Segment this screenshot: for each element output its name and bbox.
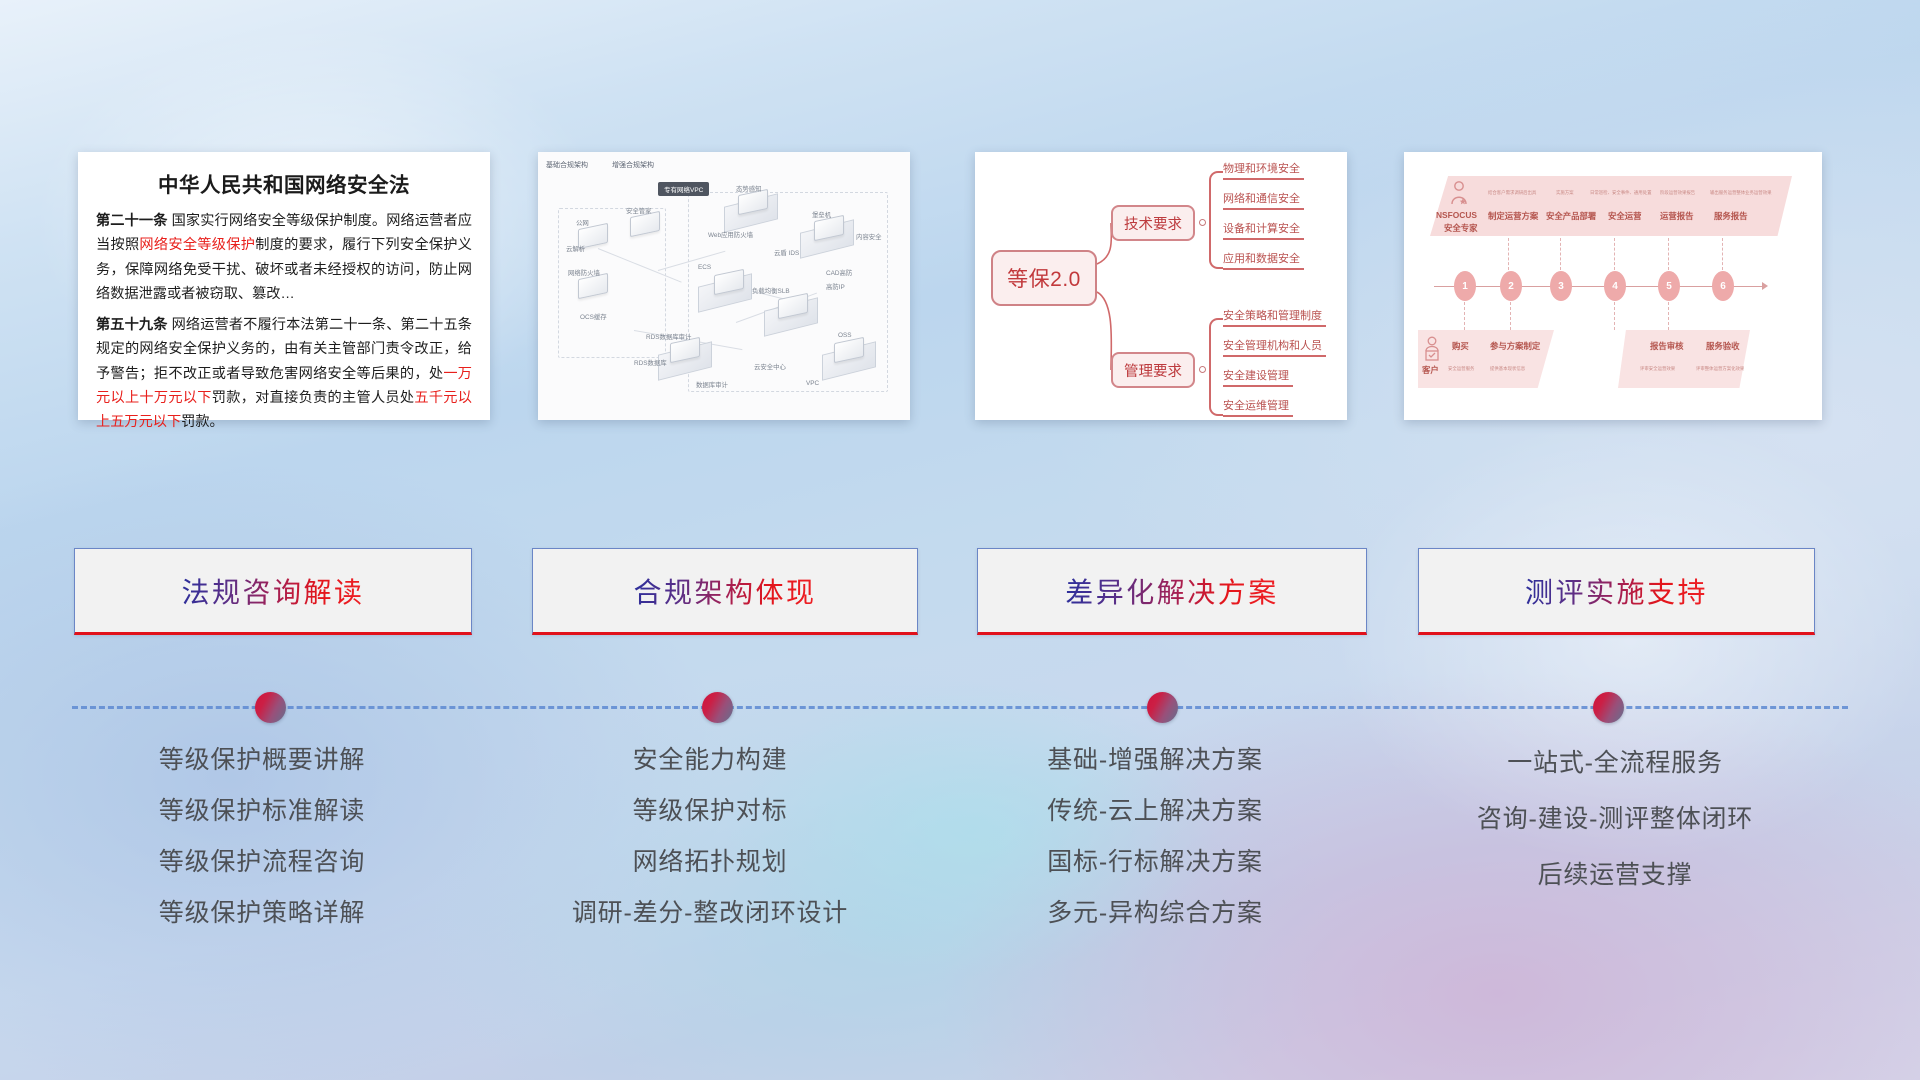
security-expert-icon — [1448, 180, 1470, 206]
card-operations-timeline[interactable]: NSFOCUS 安全专家 客户 1 2 3 4 5 6 — [1404, 152, 1822, 420]
arch-label-8: ECS — [698, 264, 711, 271]
ops-step-2-main: 制定运营方案 — [1488, 210, 1538, 222]
image-card-row: 中华人民共和国网络安全法 第二十一条 国家实行网络安全等级保护制度。网络运营者应… — [0, 0, 1920, 430]
timeline-dot-2[interactable] — [702, 692, 733, 723]
card-cybersecurity-law[interactable]: 中华人民共和国网络安全法 第二十一条 国家实行网络安全等级保护制度。网络运营者应… — [78, 152, 490, 420]
ops-customer-action-2-main: 报告审核 — [1650, 340, 1684, 352]
arch-tag-vpc: 专有网络VPC — [658, 182, 709, 196]
list-item: 传统-云上解决方案 — [965, 786, 1345, 837]
law-title: 中华人民共和国网络安全法 — [96, 168, 472, 198]
law-article-21-highlight: 网络安全等级保护 — [139, 237, 255, 253]
detail-list-2: 安全能力构建 等级保护对标 网络拓扑规划 调研-差分-整改闭环设计 — [520, 735, 900, 939]
arch-label-15: OCS缓存 — [580, 312, 607, 321]
timeline-connector — [0, 687, 1920, 727]
section-title-4: 测评实施支持 — [1525, 571, 1708, 611]
timeline-dot-4[interactable] — [1593, 692, 1624, 723]
section-title-box-4[interactable]: 测评实施支持 — [1418, 548, 1815, 635]
arch-label-17: 数据库审计 — [696, 380, 728, 389]
ops-step-4[interactable]: 4 — [1604, 271, 1626, 301]
law-article-59-text-c: 罚款。 — [181, 414, 224, 430]
list-item: 网络拓扑规划 — [520, 837, 900, 888]
mindmap-node-management: 管理要求 — [1111, 352, 1195, 388]
arch-label-6: 云解析 — [566, 244, 585, 253]
ops-tick-down-6 — [1668, 302, 1669, 330]
list-item: 一站式-全流程服务 — [1405, 735, 1825, 791]
list-item: 基础-增强解决方案 — [965, 735, 1345, 786]
ops-timeline-arrow-icon — [1762, 282, 1768, 290]
ops-role-expert-line1: NSFOCUS — [1436, 210, 1477, 220]
list-item: 咨询-建设-测评整体闭环 — [1405, 791, 1825, 847]
mindmap-leaf-mgmt-0: 安全策略和管理制度 — [1223, 307, 1322, 325]
arch-label-1: 安全管家 — [626, 206, 652, 215]
section-title-2: 合规架构体现 — [633, 571, 816, 611]
ops-role-expert-line2: 安全专家 — [1444, 222, 1478, 234]
mindmap-brace-technical — [1209, 171, 1223, 269]
mindmap-leaf-tech-2: 设备和计算安全 — [1223, 220, 1300, 238]
detail-list-4: 一站式-全流程服务 咨询-建设-测评整体闭环 后续运营支撑 — [1405, 735, 1825, 903]
ops-step-3[interactable]: 3 — [1550, 271, 1572, 301]
ops-tick-6 — [1722, 238, 1723, 270]
list-item: 等级保护策略详解 — [72, 888, 452, 939]
law-article-59-label: 第五十九条 — [96, 317, 168, 333]
ops-step-2-sub: 结合客户需求调研后出具 — [1488, 190, 1536, 196]
arch-tab-enhanced: 增强合规架构 — [612, 160, 654, 170]
law-article-21: 第二十一条 国家实行网络安全等级保护制度。网络运营者应当按照网络安全等级保护制度… — [96, 209, 472, 307]
ops-banner-expert — [1430, 176, 1792, 236]
ops-customer-action-1-sub: 提供基本现状信息 — [1490, 366, 1525, 372]
ops-tick-down-2 — [1510, 302, 1511, 330]
ops-role-customer: 客户 — [1422, 364, 1439, 376]
arch-label-4: Web应用防火墙 — [708, 230, 753, 239]
ops-step-5-sub: 阶段运营效果报告 — [1660, 190, 1695, 196]
section-title-3: 差异化解决方案 — [1065, 571, 1279, 611]
mindmap-leaf-mgmt-2: 安全建设管理 — [1223, 367, 1289, 385]
ops-tick-2 — [1508, 238, 1509, 270]
list-item: 等级保护标准解读 — [72, 786, 452, 837]
mindmap-leaf-tech-3: 应用和数据安全 — [1223, 250, 1300, 268]
ops-customer-action-3-sub: 评审整体运营方案化效果 — [1696, 366, 1744, 372]
ops-tick-3 — [1560, 238, 1561, 270]
card-mindmap-dengbao[interactable]: 等保2.0 技术要求 物理和环境安全 网络和通信安全 设备和计算安全 应用和数据… — [975, 152, 1347, 420]
arch-label-7: 网络防火墙 — [568, 268, 600, 277]
list-item: 调研-差分-整改闭环设计 — [520, 888, 900, 939]
ops-tick-4 — [1614, 238, 1615, 270]
ops-step-3-main: 安全产品部署 — [1546, 210, 1596, 222]
mindmap-leaf-tech-0: 物理和环境安全 — [1223, 160, 1300, 178]
ops-step-4-main: 安全运营 — [1608, 210, 1642, 222]
mindmap-node-technical: 技术要求 — [1111, 205, 1195, 241]
ops-step-3-sub: 实施方案 — [1556, 190, 1574, 196]
mindmap-leaf-mgmt-3: 安全运维管理 — [1223, 397, 1289, 415]
mindmap-brace-management — [1209, 318, 1223, 416]
law-document: 中华人民共和国网络安全法 第二十一条 国家实行网络安全等级保护制度。网络运营者应… — [78, 152, 490, 420]
arch-label-18: VPC — [806, 380, 819, 387]
mindmap-leaf-mgmt-1: 安全管理机构和人员 — [1223, 337, 1322, 355]
law-article-59: 第五十九条 网络运营者不履行本法第二十一条、第二十五条规定的网络安全保护义务的，… — [96, 313, 472, 435]
detail-list-3: 基础-增强解决方案 传统-云上解决方案 国标-行标解决方案 多元-异构综合方案 — [965, 735, 1345, 939]
section-title-1: 法规咨询解读 — [181, 571, 364, 611]
arch-label-5: 云盾 IDS — [774, 248, 799, 257]
mindmap-leaf-tech-1: 网络和通信安全 — [1223, 190, 1300, 208]
arch-label-19: 云安全中心 — [754, 362, 786, 371]
section-title-box-2[interactable]: 合规架构体现 — [532, 548, 918, 635]
timeline-dot-1[interactable] — [255, 692, 286, 723]
section-title-box-3[interactable]: 差异化解决方案 — [977, 548, 1367, 635]
arch-label-14: OSS — [838, 332, 852, 339]
arch-label-10: RDS数据库审计 — [646, 332, 691, 341]
timeline-dashed-line — [72, 706, 1848, 709]
list-item: 多元-异构综合方案 — [965, 888, 1345, 939]
ops-tick-down-5 — [1614, 302, 1615, 330]
list-item: 等级保护流程咨询 — [72, 837, 452, 888]
ops-step-1[interactable]: 1 — [1454, 271, 1476, 301]
list-item: 国标-行标解决方案 — [965, 837, 1345, 888]
arch-label-16: RDS数据库 — [634, 358, 667, 367]
arch-label-13: 内容安全 — [856, 232, 882, 241]
arch-label-3: 堡垒机 — [812, 210, 831, 219]
law-article-21-label: 第二十一条 — [96, 213, 168, 229]
list-item: 后续运营支撑 — [1405, 847, 1825, 903]
ops-customer-action-2-sub: 评审安全运营效果 — [1640, 366, 1675, 372]
ops-step-2[interactable]: 2 — [1500, 271, 1522, 301]
ops-tick-down-1 — [1464, 302, 1465, 330]
arch-tab-basic: 基础合规架构 — [546, 160, 588, 170]
ops-step-5-main: 运营报告 — [1660, 210, 1694, 222]
list-item: 安全能力构建 — [520, 735, 900, 786]
architecture-diagram: 基础合规架构 增强合规架构 专有网络VPC — [538, 152, 910, 420]
ops-step-6[interactable]: 6 — [1712, 271, 1734, 301]
card-cloud-architecture[interactable]: 基础合规架构 增强合规架构 专有网络VPC — [538, 152, 910, 420]
arch-label-2: 态势感知 — [736, 184, 762, 193]
ops-step-4-sub: 日常巡检、安全事件、通用处置 — [1590, 190, 1651, 196]
list-item: 等级保护概要讲解 — [72, 735, 452, 786]
list-item: 等级保护对标 — [520, 786, 900, 837]
ops-customer-action-0-sub: 安全运营服务 — [1448, 366, 1474, 372]
section-title-box-1[interactable]: 法规咨询解读 — [74, 548, 472, 635]
customer-icon — [1422, 336, 1442, 362]
ops-tick-5 — [1668, 238, 1669, 270]
ops-step-6-sub: 输出服务运营整体业务运营效果 — [1710, 190, 1771, 196]
operations-diagram: NSFOCUS 安全专家 客户 1 2 3 4 5 6 — [1404, 152, 1822, 420]
ops-step-5[interactable]: 5 — [1658, 271, 1680, 301]
ops-customer-action-1-main: 参与方案制定 — [1490, 340, 1540, 352]
arch-label-12: 高防IP — [826, 282, 845, 291]
law-article-59-text-b: 罚款，对直接负责的主管人员处 — [212, 390, 415, 406]
mindmap-diagram: 等保2.0 技术要求 物理和环境安全 网络和通信安全 设备和计算安全 应用和数据… — [975, 152, 1347, 420]
mindmap-collapse-dot-technical[interactable] — [1199, 219, 1206, 226]
arch-label-11: CAD高防 — [826, 268, 852, 277]
ops-step-6-main: 服务报告 — [1714, 210, 1748, 222]
ops-customer-action-3-main: 服务验收 — [1706, 340, 1740, 352]
ops-banner-customer-right — [1618, 330, 1750, 388]
timeline-dot-3[interactable] — [1147, 692, 1178, 723]
arch-label-9: 负载均衡SLB — [752, 286, 790, 295]
ops-customer-action-0-main: 购买 — [1452, 340, 1469, 352]
detail-list-1: 等级保护概要讲解 等级保护标准解读 等级保护流程咨询 等级保护策略详解 — [72, 735, 452, 939]
arch-label-0: 公网 — [576, 218, 589, 227]
mindmap-collapse-dot-management[interactable] — [1199, 366, 1206, 373]
